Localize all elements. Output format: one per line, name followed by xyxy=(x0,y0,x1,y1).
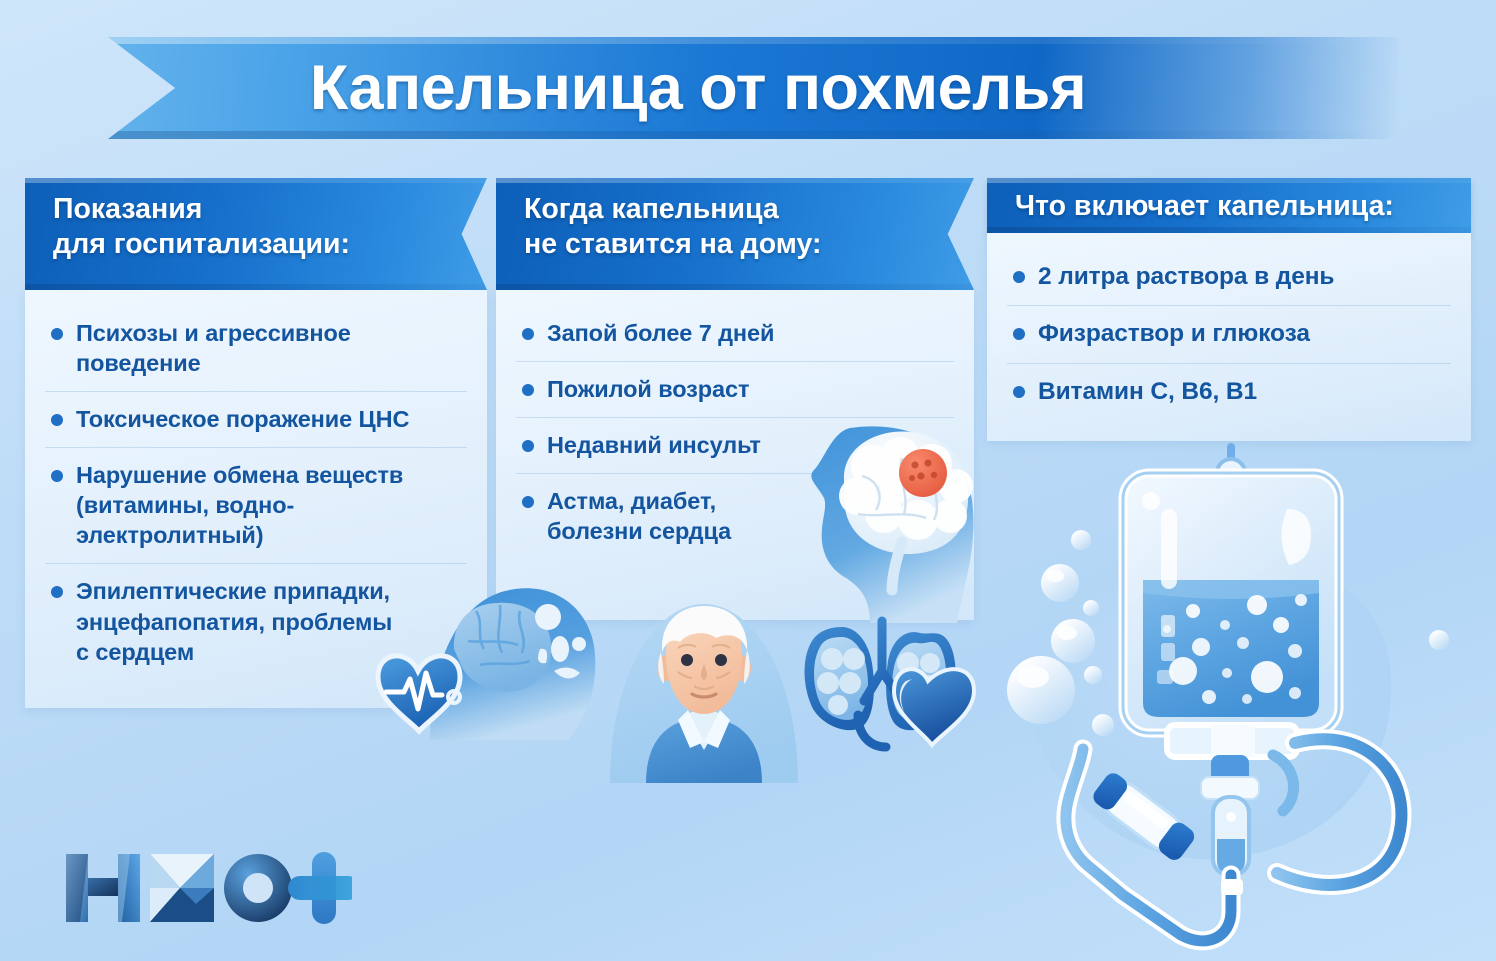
list-item: Запой более 7 дней xyxy=(516,306,954,362)
elderly-person-icon xyxy=(604,598,804,783)
bullet-dot-icon xyxy=(522,384,534,396)
list-item: Физраствор и глюкоза xyxy=(1007,306,1451,363)
bullet-dot-icon xyxy=(1013,386,1025,398)
bullet-dot-icon xyxy=(522,440,534,452)
list-item: Токсическое поражение ЦНС xyxy=(45,392,467,448)
list-item: 2 литра раствора в день xyxy=(1007,249,1451,306)
head-brain-stroke-icon xyxy=(792,418,1007,623)
title-ribbon: Капельница от похмелья xyxy=(108,37,1398,139)
ribbon-shadow xyxy=(108,131,1398,139)
bullet-dot-icon xyxy=(51,328,63,340)
head-brain-heartbeat-icon xyxy=(372,545,602,740)
bullet-dot-icon xyxy=(1013,328,1025,340)
logo-letter-e xyxy=(150,854,214,922)
list-item-label: Физраствор и глюкоза xyxy=(1038,318,1310,349)
lungs-heart-icon xyxy=(798,615,983,755)
logo-letter-n xyxy=(66,854,140,922)
list-item-label: Токсическое поражение ЦНС xyxy=(76,404,409,434)
card-body-contents: 2 литра раствора в день Физраствор и глю… xyxy=(987,233,1471,441)
card-header-label: Когда капельница не ставится на дому: xyxy=(496,178,974,279)
page-title: Капельница от похмелья xyxy=(108,52,1398,124)
bullet-dot-icon xyxy=(522,496,534,508)
card-header-label: Показания для госпитализации: xyxy=(25,178,487,279)
brand-logo-neo-plus xyxy=(62,840,352,935)
list-item: Витамин С, В6, В1 xyxy=(1007,364,1451,420)
list-item-label: Астма, диабет, болезни сердца xyxy=(547,486,731,546)
list-item-label: Пожилой возраст xyxy=(547,374,749,404)
bullet-dot-icon xyxy=(51,414,63,426)
card-header-label: Что включает капельница: xyxy=(987,178,1471,235)
list-contents: 2 литра раствора в день Физраствор и глю… xyxy=(1007,249,1451,420)
list-item: Психозы и агрессивное поведение xyxy=(45,306,467,392)
list-item-label: Запой более 7 дней xyxy=(547,318,774,348)
bullet-dot-icon xyxy=(51,470,63,482)
list-item-label: Недавний инсульт xyxy=(547,430,761,460)
card-header-contents: Что включает капельница: xyxy=(987,178,1471,233)
ribbon-highlight xyxy=(108,37,1398,44)
card-contents: Что включает капельница: 2 литра раствор… xyxy=(987,178,1471,441)
bullet-dot-icon xyxy=(51,586,63,598)
bullet-dot-icon xyxy=(1013,271,1025,283)
list-item-label: Психозы и агрессивное поведение xyxy=(76,318,351,378)
bullet-dot-icon xyxy=(522,328,534,340)
list-item-label: 2 литра раствора в день xyxy=(1038,261,1334,292)
card-header-contraindications: Когда капельница не ставится на дому: xyxy=(496,178,974,290)
logo-plus-icon xyxy=(288,852,352,924)
list-item-label: Эпилептические припадки, энцефапопатия, … xyxy=(76,576,392,666)
logo-letter-o xyxy=(224,854,292,922)
iv-drip-bag-icon xyxy=(995,425,1485,955)
list-item-label: Нарушение обмена веществ (витамины, водн… xyxy=(76,460,461,550)
card-header-indications: Показания для госпитализации: xyxy=(25,178,487,290)
infographic-canvas: Капельница от похмелья Показания для гос… xyxy=(0,0,1496,961)
list-item-label: Витамин С, В6, В1 xyxy=(1038,376,1257,407)
list-item: Пожилой возраст xyxy=(516,362,954,418)
